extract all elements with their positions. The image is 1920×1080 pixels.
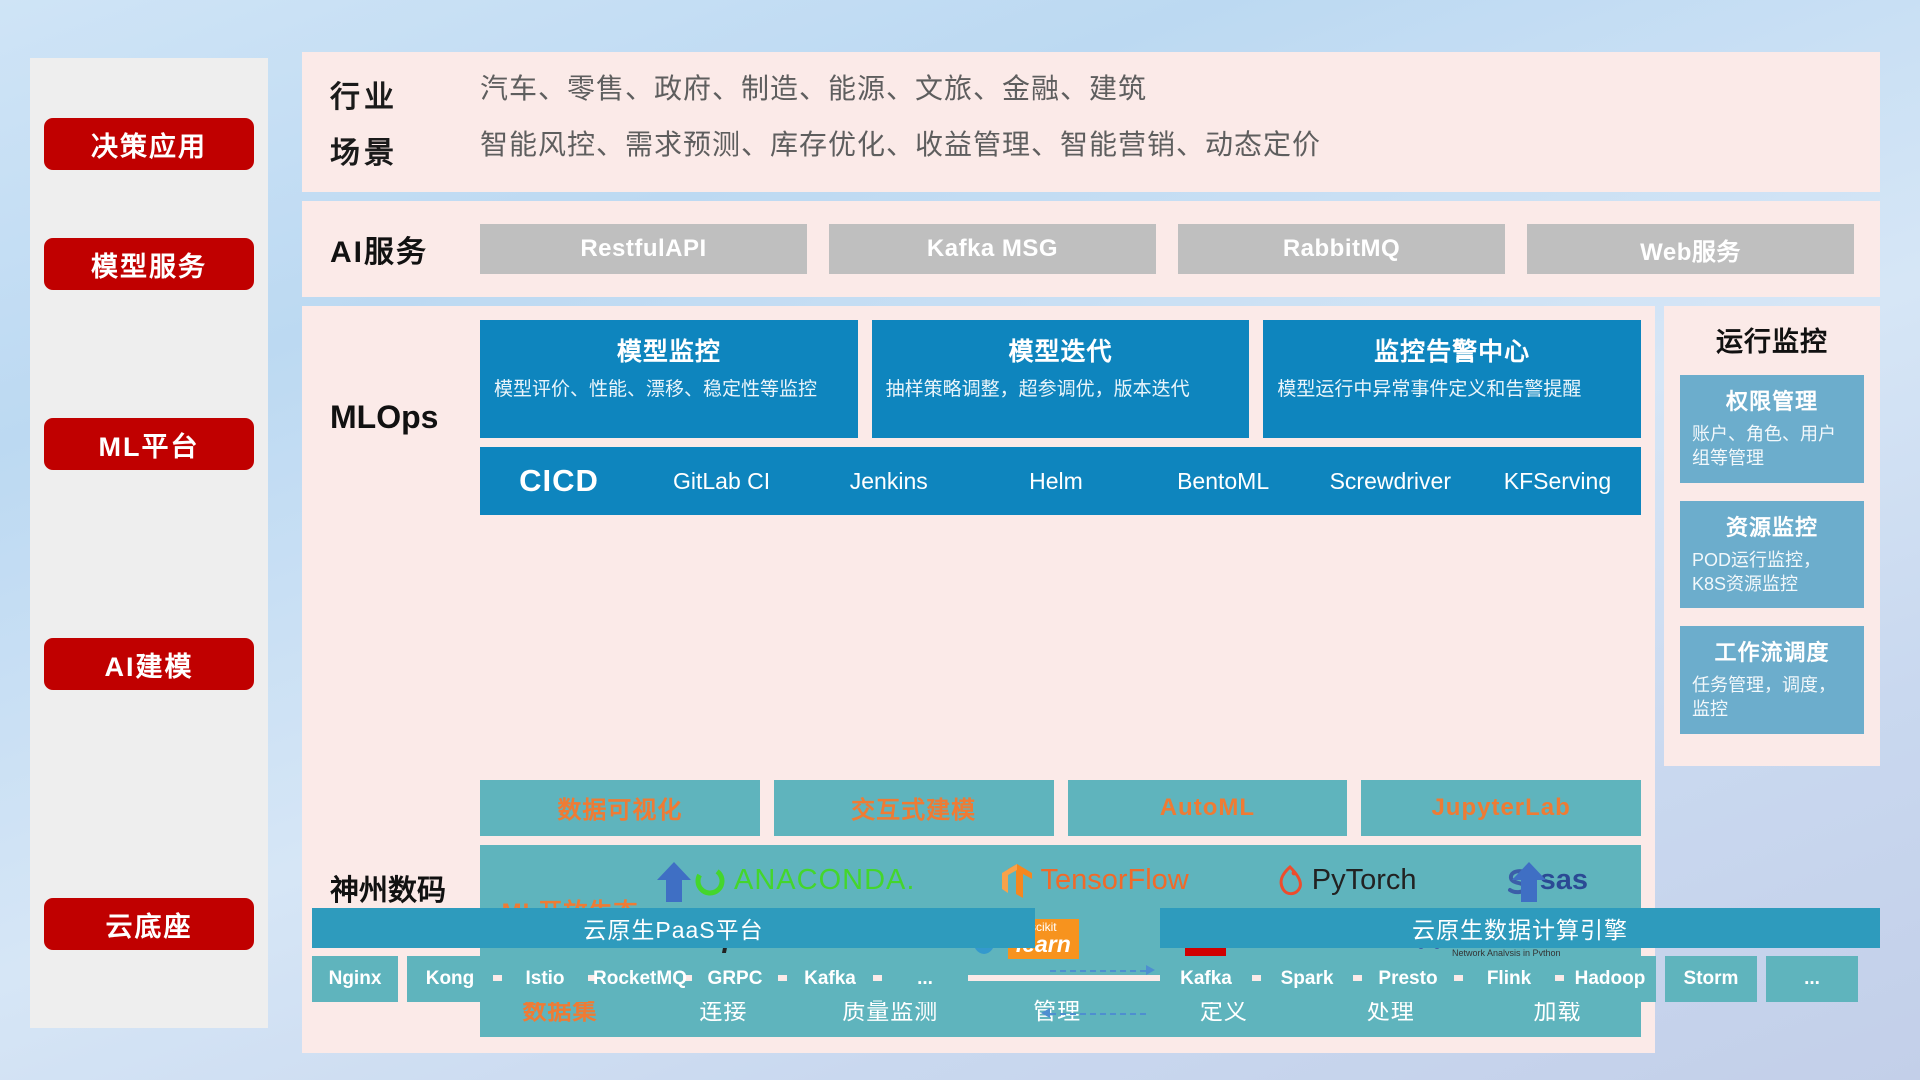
scenario-label: 场景 — [330, 128, 480, 172]
cicd-title: CICD — [480, 463, 638, 499]
mlops-band: MLOps 模型监控 模型评价、性能、漂移、稳定性等监控 模型迭代 抽样策略调整… — [302, 306, 1655, 766]
mlops-label: MLOps — [330, 320, 480, 515]
service-box-restfulapi[interactable]: RestfulAPI — [480, 224, 807, 274]
rail-item-ml-platform[interactable]: ML平台 — [44, 418, 254, 470]
cicd-item-kfserving[interactable]: KFServing — [1474, 470, 1641, 493]
ai-service-items: RestfulAPI Kafka MSG RabbitMQ Web服务 — [480, 224, 1860, 274]
scenario-values: 智能风控、需求预测、库存优化、收益管理、智能营销、动态定价 — [480, 128, 1321, 162]
mlops-and-monitor-row: MLOps 模型监控 模型评价、性能、漂移、稳定性等监控 模型迭代 抽样策略调整… — [302, 306, 1880, 766]
cicd-item-helm[interactable]: Helm — [972, 470, 1139, 493]
service-box-web[interactable]: Web服务 — [1527, 224, 1854, 274]
card-desc: POD运行监控，K8S资源监控 — [1692, 548, 1852, 597]
card-desc: 抽样策略调整，超参调优，版本迭代 — [886, 377, 1236, 402]
chip-grpc[interactable]: GRPC — [692, 956, 778, 1002]
chip-kafka[interactable]: Kafka — [787, 956, 873, 1002]
rail-item-decision-app[interactable]: 决策应用 — [44, 118, 254, 170]
chip-more-engine[interactable]: ... — [1766, 956, 1858, 1002]
chip-kong[interactable]: Kong — [407, 956, 493, 1002]
industry-row: 行业 汽车、零售、政府、制造、能源、文旅、金融、建筑 — [330, 72, 1866, 116]
arrow-up-engine — [1512, 862, 1546, 902]
ml-lab-tabs: 数据可视化 交互式建模 AutoML JupyterLab — [480, 780, 1641, 836]
ai-service-band: AI服务 RestfulAPI Kafka MSG RabbitMQ Web服务 — [302, 201, 1880, 297]
arrow-up-paas — [657, 862, 691, 902]
service-box-rabbitmq[interactable]: RabbitMQ — [1178, 224, 1505, 274]
rail-item-cloud-base[interactable]: 云底座 — [44, 898, 254, 950]
link-arrow-left — [1041, 1008, 1050, 1018]
cicd-item-screwdriver[interactable]: Screwdriver — [1307, 470, 1474, 493]
cicd-item-bentoml[interactable]: BentoML — [1140, 470, 1307, 493]
card-title: 资源监控 — [1692, 510, 1852, 542]
lab-tab-interactive[interactable]: 交互式建模 — [774, 780, 1054, 836]
card-desc: 任务管理，调度，监控 — [1692, 673, 1852, 722]
link-dashed-top — [1050, 970, 1146, 972]
engine-header: 云原生数据计算引擎 — [1160, 908, 1880, 948]
cicd-item-jenkins[interactable]: Jenkins — [805, 470, 972, 493]
card-desc: 模型评价、性能、漂移、稳定性等监控 — [494, 377, 844, 402]
industry-label: 行业 — [330, 72, 480, 116]
chip-istio[interactable]: Istio — [502, 956, 588, 1002]
paas-header: 云原生PaaS平台 — [312, 908, 1035, 948]
link-arrow-right — [1146, 965, 1155, 975]
cloud-base-section: 云原生PaaS平台 Nginx Kong Istio RocketMQ GRPC… — [302, 880, 1880, 1040]
card-title: 模型迭代 — [886, 332, 1236, 368]
industry-values: 汽车、零售、政府、制造、能源、文旅、金融、建筑 — [480, 72, 1147, 106]
mlops-card-model-iteration[interactable]: 模型迭代 抽样策略调整，超参调优，版本迭代 — [872, 320, 1250, 438]
link-dashed-bottom — [1050, 1013, 1146, 1015]
chip-flink[interactable]: Flink — [1463, 956, 1555, 1002]
monitor-card-workflow[interactable]: 工作流调度 任务管理，调度，监控 — [1680, 626, 1864, 734]
chip-hadoop[interactable]: Hadoop — [1564, 956, 1656, 1002]
card-desc: 账户、角色、用户组等管理 — [1692, 422, 1852, 471]
mlops-cards: 模型监控 模型评价、性能、漂移、稳定性等监控 模型迭代 抽样策略调整，超参调优，… — [480, 320, 1641, 438]
chip-rocketmq[interactable]: RocketMQ — [597, 956, 683, 1002]
monitor-card-permission[interactable]: 权限管理 账户、角色、用户组等管理 — [1680, 375, 1864, 483]
cicd-item-gitlab-ci[interactable]: GitLab CI — [638, 470, 805, 493]
chip-storm[interactable]: Storm — [1665, 956, 1757, 1002]
ai-service-label: AI服务 — [330, 227, 480, 271]
stage-rail: 决策应用 模型服务 ML平台 AI建模 云底座 — [30, 58, 268, 1028]
mlops-card-alert-center[interactable]: 监控告警中心 模型运行中异常事件定义和告警提醒 — [1263, 320, 1641, 438]
rail-item-model-service[interactable]: 模型服务 — [44, 238, 254, 290]
chip-kafka-engine[interactable]: Kafka — [1160, 956, 1252, 1002]
mlops-card-model-monitor[interactable]: 模型监控 模型评价、性能、漂移、稳定性等监控 — [480, 320, 858, 438]
lab-tab-data-viz[interactable]: 数据可视化 — [480, 780, 760, 836]
decision-app-band: 行业 汽车、零售、政府、制造、能源、文旅、金融、建筑 场景 智能风控、需求预测、… — [302, 52, 1880, 192]
lab-tab-jupyterlab[interactable]: JupyterLab — [1361, 780, 1641, 836]
card-desc: 模型运行中异常事件定义和告警提醒 — [1277, 377, 1627, 402]
cicd-bar: CICD GitLab CI Jenkins Helm BentoML Scre… — [480, 447, 1641, 515]
card-title: 模型监控 — [494, 332, 844, 368]
chip-nginx[interactable]: Nginx — [312, 956, 398, 1002]
paas-group: 云原生PaaS平台 Nginx Kong Istio RocketMQ GRPC… — [312, 908, 1035, 1002]
rail-item-ai-modeling[interactable]: AI建模 — [44, 638, 254, 690]
card-title: 工作流调度 — [1692, 635, 1852, 667]
card-title: 权限管理 — [1692, 384, 1852, 416]
chip-presto[interactable]: Presto — [1362, 956, 1454, 1002]
service-box-kafka-msg[interactable]: Kafka MSG — [829, 224, 1156, 274]
lab-tab-automl[interactable]: AutoML — [1068, 780, 1348, 836]
engine-chips: Kafka Spark Presto Flink Hadoop Storm ..… — [1160, 956, 1880, 1002]
chip-spark[interactable]: Spark — [1261, 956, 1353, 1002]
monitor-card-resource[interactable]: 资源监控 POD运行监控，K8S资源监控 — [1680, 501, 1864, 609]
chip-more-paas[interactable]: ... — [882, 956, 968, 1002]
runtime-monitor-column: 运行监控 权限管理 账户、角色、用户组等管理 资源监控 POD运行监控，K8S资… — [1664, 306, 1880, 766]
scenario-row: 场景 智能风控、需求预测、库存优化、收益管理、智能营销、动态定价 — [330, 128, 1866, 172]
card-title: 监控告警中心 — [1277, 332, 1627, 368]
runtime-monitor-title: 运行监控 — [1680, 320, 1864, 359]
engine-group: 云原生数据计算引擎 Kafka Spark Presto Flink Hadoo… — [1160, 908, 1880, 1002]
paas-chips: Nginx Kong Istio RocketMQ GRPC Kafka ... — [312, 956, 1035, 1002]
diagram-root: 决策应用 模型服务 ML平台 AI建模 云底座 行业 汽车、零售、政府、制造、能… — [0, 0, 1920, 1080]
